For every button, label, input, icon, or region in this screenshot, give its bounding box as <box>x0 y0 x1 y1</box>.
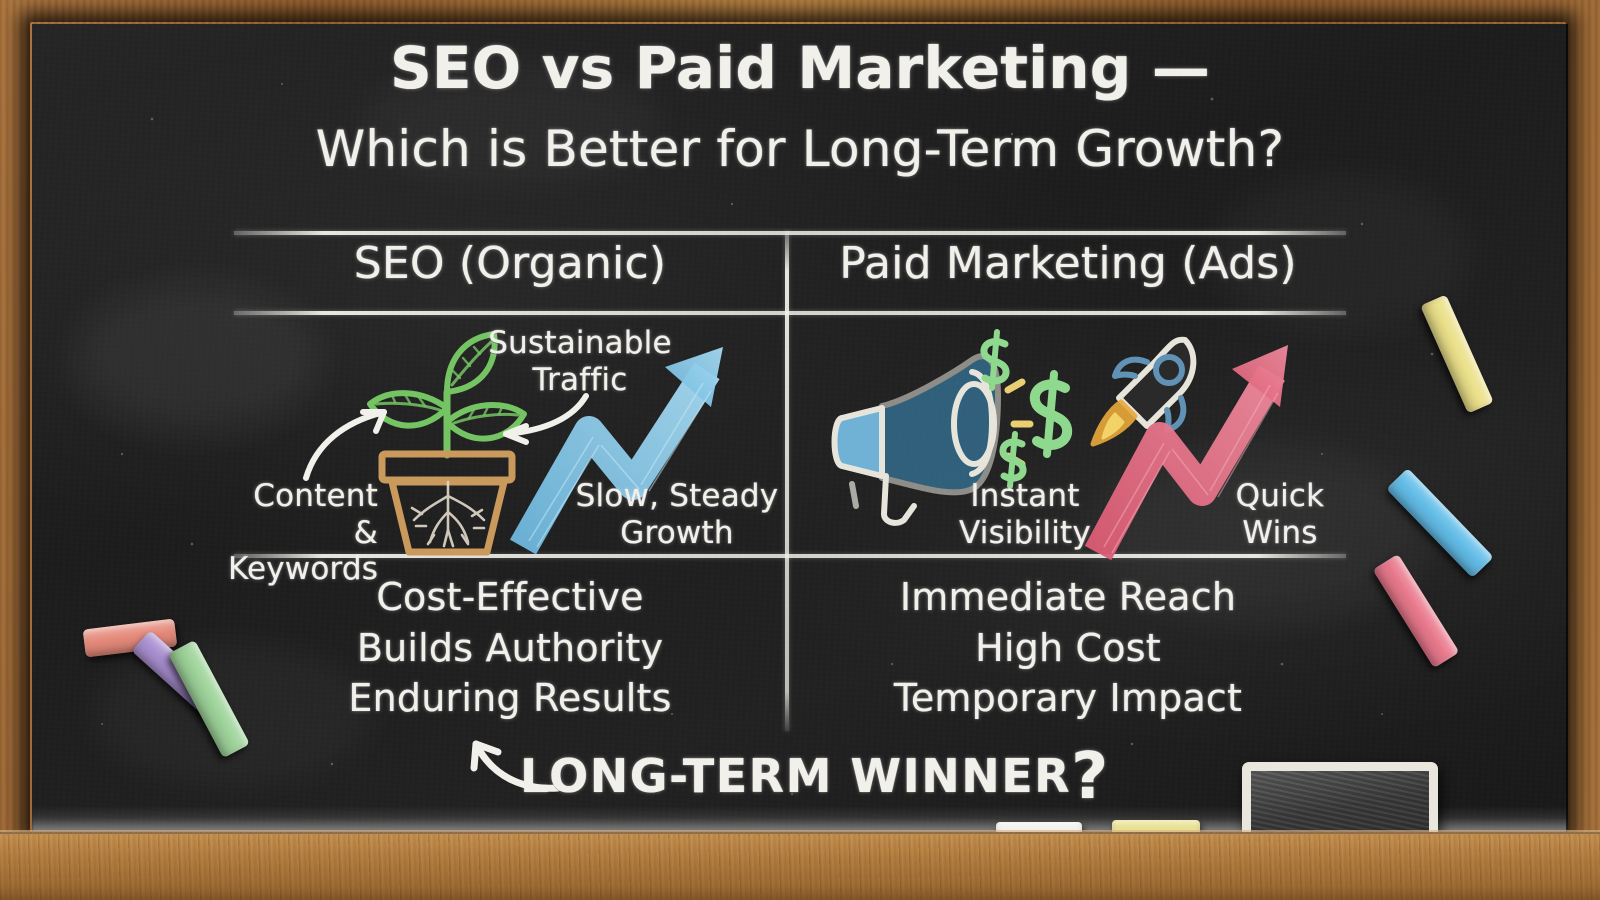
frame-inner-shadow <box>30 22 1566 832</box>
chalk-tray-ledge <box>0 832 1600 900</box>
chalkboard-scene: SEO vs Paid Marketing — Which is Better … <box>0 0 1600 900</box>
